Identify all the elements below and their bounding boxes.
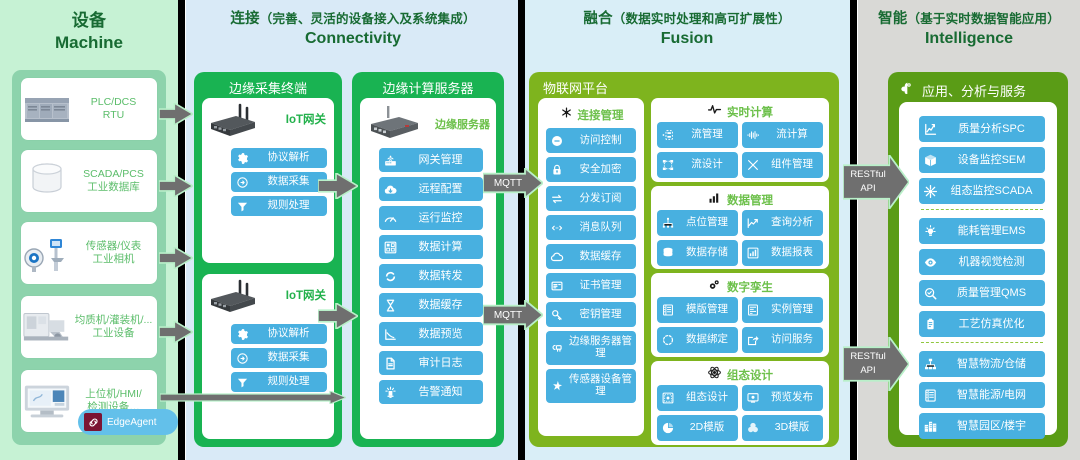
chip-label: 机器视觉检测 <box>941 256 1045 268</box>
flow-design-icon <box>657 158 679 172</box>
flow-manage-icon <box>657 128 679 142</box>
arrow-restful-1: RESTfulAPI <box>843 155 909 209</box>
chip-label: 实例管理 <box>764 304 823 316</box>
machine-card-2[interactable]: SCADA/PCS工业数据库 <box>21 150 157 212</box>
application-group-divider <box>921 342 1043 343</box>
edge-server-device-icon <box>365 104 423 142</box>
iot-gateway-header: IoT网关 <box>202 98 334 142</box>
gateway-manage-icon <box>379 153 401 168</box>
fusion-group-title: 数字孪生 <box>727 279 773 295</box>
chip-label: 传感器设备管理 <box>568 374 636 398</box>
iot-gateway-label: IoT网关 <box>286 287 326 303</box>
chip-label: 组态设计 <box>679 392 738 404</box>
chip-label: 查询分析 <box>764 217 823 229</box>
chip-label: 2D模版 <box>679 422 738 434</box>
chip-key[interactable]: 密钥管理 <box>546 302 636 327</box>
arrow-mqtt-2: MQTT <box>483 300 543 330</box>
chip-exchange-arrows[interactable]: 分发订阅 <box>546 186 636 211</box>
data-report-icon <box>742 246 764 260</box>
chip-label: 协议解析 <box>253 152 327 164</box>
scada-monitor-icon <box>919 184 941 199</box>
process-sim-icon <box>919 317 941 332</box>
connection-management-header: 连接管理 <box>538 105 644 125</box>
arrow-machine-to-gateway-4 <box>159 321 193 348</box>
cloud-icon <box>546 250 568 264</box>
instance-manage-icon <box>742 303 764 317</box>
chip-message-queue[interactable]: 消息队列 <box>546 215 636 240</box>
edge-server-card-label: 边缘服务器 <box>435 116 490 132</box>
connection-management-list: 访问控制安全加密分发订阅消息队列数据缓存证书管理密钥管理边缘服务器管理传感器设备… <box>546 128 636 407</box>
chip-label: 审计日志 <box>401 357 483 369</box>
iot-gateway-feature-list: 协议解析数据采集规则处理 <box>231 324 327 396</box>
chip-label: 组态监控SCADA <box>941 185 1045 197</box>
edge-server-feature-list: 网关管理远程配置运行监控数据计算数据转发数据缓存数据预览审计日志告警通知 <box>379 148 483 409</box>
pulse-wave-icon <box>707 102 722 122</box>
chip-cloud[interactable]: 数据缓存 <box>546 244 636 269</box>
smart-building-icon <box>919 419 941 434</box>
fusion-group-3: 数字孪生模版管理实例管理数据绑定访问服务 <box>651 273 829 357</box>
alarm-light-icon <box>379 385 401 400</box>
machine-card-1[interactable]: PLC/DCSRTU <box>21 78 157 140</box>
brain-ai-icon <box>898 80 914 101</box>
chip-label: 智慧能源/电网 <box>941 389 1045 401</box>
gauge-icon <box>379 211 401 226</box>
chip-label: 边缘服务器管理 <box>568 336 636 360</box>
column-divider-2 <box>518 0 525 460</box>
chip-component-manage[interactable]: 组件管理 <box>742 152 823 178</box>
application-analytics-body: 质量分析SPC设备监控SEM组态监控SCADA能耗管理EMS机器视觉检测质量管理… <box>899 102 1057 435</box>
machine-card-3[interactable]: 传感器/仪表工业相机 <box>21 222 157 284</box>
arrow-mqtt-1: MQTT <box>483 168 543 198</box>
column-fusion-title-en: Fusion <box>524 29 850 49</box>
arrow-machine-to-edge-server <box>160 391 346 409</box>
machine-card-label: PLC/DCSRTU <box>73 96 157 122</box>
access-service-icon <box>742 333 764 347</box>
column-intelligence-title-cn: 智能（基于实时数据智能应用） <box>858 10 1080 28</box>
machine-card-label: 传感器/仪表工业相机 <box>73 240 157 266</box>
key-icon <box>546 308 568 322</box>
chart-line-icon <box>379 327 401 342</box>
fusion-group-header: 数据管理 <box>651 190 829 210</box>
edge-terminal-panel-title: 边缘采集终端 <box>194 78 342 97</box>
iot-gateway-card-2: IoT网关协议解析数据采集规则处理 <box>202 274 334 439</box>
column-intelligence-title: 智能（基于实时数据智能应用） Intelligence <box>858 10 1080 49</box>
chip-label: 设备监控SEM <box>941 154 1045 166</box>
scada-design-icon <box>657 391 679 405</box>
conn-title-sub: （完善、灵活的设备接入及系统集成） <box>260 12 476 26</box>
chip-label: 运行监控 <box>401 212 483 224</box>
chip-refresh-sync[interactable]: 数据转发 <box>379 264 483 288</box>
fusion-group-header: 数字孪生 <box>651 277 829 297</box>
arrow-gateway-to-server-2 <box>318 303 358 334</box>
chip-alarm-light[interactable]: 告警通知 <box>379 380 483 404</box>
sensor-instrument-icon <box>21 230 73 276</box>
fusion-group-title: 实时计算 <box>727 104 773 120</box>
energy-grid-icon <box>919 388 941 403</box>
chip-grid-compute[interactable]: 数据计算 <box>379 235 483 259</box>
chip-label: 数据预览 <box>401 328 483 340</box>
link-chain-icon <box>84 413 102 431</box>
certificate-icon <box>546 279 568 293</box>
fusion-group-title: 组态设计 <box>727 367 773 383</box>
application-analytics-panel: 应用、分析与服务 质量分析SPC设备监控SEM组态监控SCADA能耗管理EMS机… <box>888 72 1068 447</box>
fusion-group-title: 数据管理 <box>727 192 773 208</box>
component-manage-icon <box>742 158 764 172</box>
column-fusion-title: 融合（数据实时处理和高可扩展性） Fusion <box>524 10 850 49</box>
arrow-machine-to-gateway-2 <box>159 175 193 202</box>
machine-card-label: SCADA/PCS工业数据库 <box>73 168 157 194</box>
filter-funnel-icon <box>231 200 253 213</box>
chip-label: 工艺仿真优化 <box>941 318 1045 330</box>
chip-label: 数据采集 <box>253 176 327 188</box>
column-connectivity-title-cn: 连接（完善、灵活的设备接入及系统集成） <box>186 10 520 28</box>
fusion-title-sub: （数据实时处理和高可扩展性） <box>613 12 791 26</box>
iot-platform-title: 物联网平台 <box>543 78 839 97</box>
stream-compute-icon <box>742 128 764 142</box>
iot-gateway-card-1: IoT网关协议解析数据采集规则处理 <box>202 98 334 263</box>
energy-bulb-icon <box>919 224 941 239</box>
machine-card-4[interactable]: 均质机/灌装机/...工业设备 <box>21 296 157 358</box>
chip-gauge[interactable]: 运行监控 <box>379 206 483 230</box>
edge-compute-server-panel: 边缘计算服务器 边缘服务器 网关管理远程配置运 <box>352 72 504 447</box>
chip-label: 数据报表 <box>764 247 823 259</box>
chip-label: 模版管理 <box>679 304 738 316</box>
chip-label: 访问服务 <box>764 334 823 346</box>
refresh-sync-icon <box>379 269 401 284</box>
fusion-group-1: 实时计算流管理流计算流设计组件管理 <box>651 98 829 182</box>
gear-icon <box>231 328 253 341</box>
chip-certificate[interactable]: 证书管理 <box>546 273 636 298</box>
atom-icon <box>707 365 722 385</box>
chip-label: 能耗管理EMS <box>941 225 1045 237</box>
chip-lock[interactable]: 安全加密 <box>546 157 636 182</box>
chip-label: 安全加密 <box>568 164 636 176</box>
chip-pie-2d[interactable]: 2D模版 <box>657 415 738 441</box>
sensor-pin-icon <box>546 379 568 393</box>
data-binding-icon <box>657 333 679 347</box>
machine-card-label: 均质机/灌装机/...工业设备 <box>73 314 157 340</box>
twin-gear-icon <box>707 277 722 297</box>
chip-label: 分发订阅 <box>568 193 636 205</box>
edge-compute-server-panel-title: 边缘计算服务器 <box>352 78 504 97</box>
edge-agent-label: EdgeAgent <box>107 417 157 428</box>
chip-flow-manage[interactable]: 流管理 <box>657 122 738 148</box>
chip-label: 组件管理 <box>764 159 823 171</box>
chip-venn-3d[interactable]: 3D模版 <box>742 415 823 441</box>
chip-energy-grid[interactable]: 智慧能源/电网 <box>919 382 1045 408</box>
chip-minus-circle[interactable]: 访问控制 <box>546 128 636 153</box>
qms-search-icon <box>919 286 941 301</box>
edge-server-card: 边缘服务器 网关管理远程配置运行监控数据计算数据转发数据缓存数据预览审计日志告警… <box>360 98 496 439</box>
chip-energy-bulb[interactable]: 能耗管理EMS <box>919 218 1045 244</box>
connection-management-title: 连接管理 <box>578 107 624 123</box>
arrow-machine-to-gateway-3 <box>159 247 193 274</box>
point-manage-icon <box>657 216 679 230</box>
chip-data-binding[interactable]: 数据绑定 <box>657 327 738 353</box>
conn-title-main: 连接 <box>230 11 259 27</box>
chip-gateway-manage[interactable]: 网关管理 <box>379 148 483 172</box>
fusion-group-header: 实时计算 <box>651 102 829 122</box>
hmi-computer-icon <box>21 378 73 424</box>
chip-label: 流设计 <box>679 159 738 171</box>
application-list: 质量分析SPC设备监控SEM组态监控SCADA能耗管理EMS机器视觉检测质量管理… <box>919 116 1045 444</box>
machine-panel: PLC/DCSRTUSCADA/PCS工业数据库传感器/仪表工业相机均质机/灌装… <box>12 70 166 445</box>
chip-label: 远程配置 <box>401 183 483 195</box>
database-icon <box>21 158 73 204</box>
application-group-divider <box>921 209 1043 210</box>
bar-chart-icon <box>707 190 722 210</box>
chip-label: 流计算 <box>764 129 823 141</box>
hourglass-icon <box>379 298 401 313</box>
chip-point-manage[interactable]: 点位管理 <box>657 210 738 236</box>
column-connectivity-title: 连接（完善、灵活的设备接入及系统集成） Connectivity <box>186 10 520 49</box>
chip-label: 密钥管理 <box>568 309 636 321</box>
chip-label: 规则处理 <box>253 200 327 212</box>
chip-label: 质量分析SPC <box>941 123 1045 135</box>
chip-stream-compute[interactable]: 流计算 <box>742 122 823 148</box>
chip-label: 数据缓存 <box>401 299 483 311</box>
chip-eye-vision[interactable]: 机器视觉检测 <box>919 249 1045 275</box>
chip-box-device[interactable]: 设备监控SEM <box>919 147 1045 173</box>
spc-chart-icon <box>919 122 941 137</box>
iot-gateway-device-icon <box>206 279 264 315</box>
arrow-restful-2: RESTfulAPI <box>843 337 909 391</box>
chip-label: 访问控制 <box>568 135 636 147</box>
chip-label: 3D模版 <box>764 422 823 434</box>
column-divider-3 <box>850 0 857 460</box>
data-storage-icon <box>657 246 679 260</box>
iot-gateway-header: IoT网关 <box>202 274 334 318</box>
lock-icon <box>546 163 568 177</box>
chip-label: 消息队列 <box>568 222 636 234</box>
cloud-download-icon <box>379 182 401 197</box>
chip-access-service[interactable]: 访问服务 <box>742 327 823 353</box>
grid-compute-icon <box>379 240 401 255</box>
column-machine-title: 设备 Machine <box>0 10 178 54</box>
chip-process-sim[interactable]: 工艺仿真优化 <box>919 311 1045 337</box>
document-icon <box>379 356 401 371</box>
arrow-circle-right-icon <box>231 352 253 365</box>
filter-funnel-icon <box>231 376 253 389</box>
fusion-group-2: 数据管理点位管理查询分析数据存储数据报表 <box>651 186 829 269</box>
chip-edge-server-manage[interactable]: 边缘服务器管理 <box>546 331 636 365</box>
fusion-group-grid: 模版管理实例管理数据绑定访问服务 <box>657 297 823 353</box>
arrow-machine-to-gateway-1 <box>159 103 193 130</box>
chip-smart-building[interactable]: 智慧园区/楼宇 <box>919 413 1045 439</box>
logistics-icon <box>919 357 941 372</box>
chip-preview-publish[interactable]: 预览发布 <box>742 385 823 411</box>
query-analysis-icon <box>742 216 764 230</box>
box-device-icon <box>919 153 941 168</box>
iot-gateway-device-icon <box>206 103 264 139</box>
industrial-machine-icon <box>21 304 73 350</box>
eye-vision-icon <box>919 255 941 270</box>
architecture-diagram: 设备 Machine 连接（完善、灵活的设备接入及系统集成） Connectiv… <box>0 0 1080 460</box>
application-analytics-title: 应用、分析与服务 <box>922 81 1026 100</box>
fusion-group-header: 组态设计 <box>651 365 829 385</box>
chip-label: 数据采集 <box>253 352 327 364</box>
edge-server-card-header: 边缘服务器 <box>360 98 496 146</box>
chip-filter-funnel[interactable]: 规则处理 <box>231 372 327 392</box>
column-connectivity-title-en: Connectivity <box>186 29 520 49</box>
chip-label: 数据转发 <box>401 270 483 282</box>
pie-2d-icon <box>657 421 679 435</box>
column-fusion-title-cn: 融合（数据实时处理和高可扩展性） <box>524 10 850 28</box>
exchange-arrows-icon <box>546 192 568 206</box>
fusion-group-grid: 流管理流计算流设计组件管理 <box>657 122 823 178</box>
chip-label: 点位管理 <box>679 217 738 229</box>
venn-3d-icon <box>742 421 764 435</box>
chip-instance-manage[interactable]: 实例管理 <box>742 297 823 323</box>
fusion-group-grid: 组态设计预览发布2D模版3D模版 <box>657 385 823 441</box>
gear-icon <box>231 152 253 165</box>
iot-gateway-label: IoT网关 <box>286 111 326 127</box>
arrow-circle-right-icon <box>231 176 253 189</box>
edge-server-manage-icon <box>546 341 568 355</box>
edge-agent-badge[interactable]: EdgeAgent <box>78 409 178 435</box>
chip-label: 数据计算 <box>401 241 483 253</box>
plc-controller-icon <box>21 86 73 132</box>
chip-label: 预览发布 <box>764 392 823 404</box>
chip-query-analysis[interactable]: 查询分析 <box>742 210 823 236</box>
chip-label: 智慧园区/楼宇 <box>941 420 1045 432</box>
connection-node-icon <box>559 105 574 125</box>
chip-label: 数据绑定 <box>679 334 738 346</box>
chip-flow-design[interactable]: 流设计 <box>657 152 738 178</box>
intel-title-main: 智能 <box>878 11 907 27</box>
template-manage-icon <box>657 303 679 317</box>
arrow-gateway-to-server-1 <box>318 173 358 204</box>
chip-document[interactable]: 审计日志 <box>379 351 483 375</box>
chip-label: 质量管理QMS <box>941 287 1045 299</box>
iot-platform-panel: 物联网平台 连接管理 访问控制安全加密分发订阅消息队列数据缓存证书管理密钥管理边… <box>529 72 839 447</box>
chip-label: 智慧物流/仓储 <box>941 358 1045 370</box>
chip-sensor-pin[interactable]: 传感器设备管理 <box>546 369 636 403</box>
chip-spc-chart[interactable]: 质量分析SPC <box>919 116 1045 142</box>
chip-label: 协议解析 <box>253 328 327 340</box>
chip-scada-design[interactable]: 组态设计 <box>657 385 738 411</box>
intel-title-sub: （基于实时数据智能应用） <box>908 12 1060 26</box>
chip-gear[interactable]: 协议解析 <box>231 148 327 168</box>
chip-logistics[interactable]: 智慧物流/仓储 <box>919 351 1045 377</box>
column-machine-title-en: Machine <box>0 32 178 53</box>
fusion-title-main: 融合 <box>583 11 612 27</box>
chip-hourglass[interactable]: 数据缓存 <box>379 293 483 317</box>
minus-circle-icon <box>546 134 568 148</box>
chip-gear[interactable]: 协议解析 <box>231 324 327 344</box>
connection-management-card: 连接管理 访问控制安全加密分发订阅消息队列数据缓存证书管理密钥管理边缘服务器管理… <box>538 98 644 436</box>
chip-data-report[interactable]: 数据报表 <box>742 240 823 266</box>
fusion-group-4: 组态设计组态设计预览发布2D模版3D模版 <box>651 361 829 445</box>
chip-arrow-circle-right[interactable]: 数据采集 <box>231 348 327 368</box>
chip-data-storage[interactable]: 数据存储 <box>657 240 738 266</box>
iot-gateway-feature-list: 协议解析数据采集规则处理 <box>231 148 327 220</box>
chip-label: 证书管理 <box>568 280 636 292</box>
chip-label: 数据存储 <box>679 247 738 259</box>
application-analytics-header: 应用、分析与服务 <box>898 80 1026 101</box>
message-queue-icon <box>546 221 568 235</box>
chip-label: 网关管理 <box>401 154 483 166</box>
chip-cloud-download[interactable]: 远程配置 <box>379 177 483 201</box>
chip-chart-line[interactable]: 数据预览 <box>379 322 483 346</box>
chip-arrow-circle-right[interactable]: 数据采集 <box>231 172 327 192</box>
preview-publish-icon <box>742 391 764 405</box>
fusion-group-grid: 点位管理查询分析数据存储数据报表 <box>657 210 823 266</box>
chip-label: 数据缓存 <box>568 251 636 263</box>
chip-qms-search[interactable]: 质量管理QMS <box>919 280 1045 306</box>
chip-label: 规则处理 <box>253 376 327 388</box>
chip-template-manage[interactable]: 模版管理 <box>657 297 738 323</box>
column-machine-title-cn: 设备 <box>0 10 178 31</box>
chip-label: 流管理 <box>679 129 738 141</box>
chip-label: 告警通知 <box>401 386 483 398</box>
chip-scada-monitor[interactable]: 组态监控SCADA <box>919 178 1045 204</box>
column-intelligence-title-en: Intelligence <box>858 29 1080 49</box>
chip-filter-funnel[interactable]: 规则处理 <box>231 196 327 216</box>
